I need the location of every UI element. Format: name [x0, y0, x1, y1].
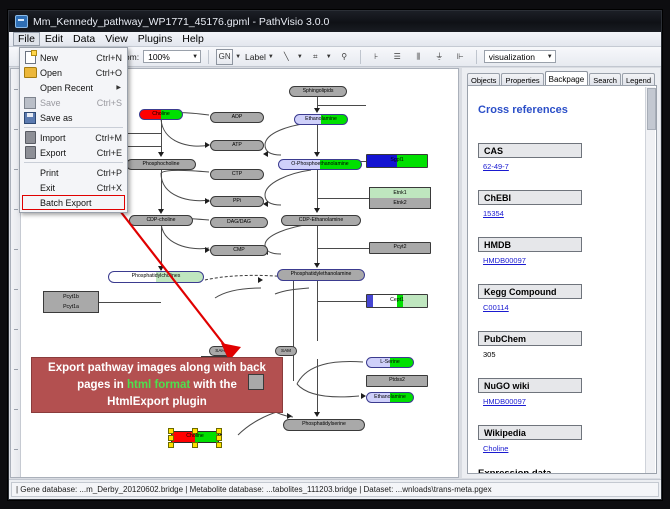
selection-handle[interactable]: [168, 435, 174, 441]
menu-help[interactable]: Help: [177, 32, 209, 46]
xref-chebi: ChEBI 15354: [478, 190, 582, 218]
gene-label: Sgpl1: [390, 158, 403, 163]
gene-cept1[interactable]: Cept1: [366, 294, 428, 308]
xref-label: NuGO wiki: [478, 378, 582, 393]
open-folder-icon: [20, 65, 40, 80]
menu-item-open[interactable]: Open Ctrl+O: [20, 65, 127, 80]
callout-line2-a: pages in: [77, 379, 127, 391]
gene-pcyt2[interactable]: Pcyt2: [369, 242, 431, 254]
chevron-right-icon: ▶: [116, 84, 127, 91]
xref-value[interactable]: 62-49-7: [478, 162, 582, 171]
toolbar-separator: [208, 50, 209, 64]
edge: [317, 105, 366, 106]
node-label: Choline: [186, 434, 204, 439]
selection-handle[interactable]: [168, 428, 174, 434]
title-bar: Mm_Kennedy_pathway_WP1771_45176.gpml - P…: [9, 11, 661, 32]
node-sphingolipids[interactable]: Sphingolipids: [289, 86, 347, 97]
layout-icon[interactable]: ⊩: [452, 49, 469, 65]
visualization-value: visualization: [489, 52, 535, 62]
node-label: O-Phosphoethanolamine: [291, 162, 348, 167]
anchor-icon[interactable]: ⚲: [336, 49, 353, 65]
application-window: Mm_Kennedy_pathway_WP1771_45176.gpml - P…: [8, 10, 662, 500]
panel-scrollbar[interactable]: [645, 87, 655, 473]
node-label: L-Serine: [380, 360, 400, 365]
chevron-down-icon[interactable]: ▼: [326, 54, 332, 60]
menu-plugins[interactable]: Plugins: [133, 32, 177, 46]
node-choline[interactable]: Choline: [139, 109, 183, 120]
xref-label: CAS: [478, 143, 582, 158]
status-text: | Gene database: ...m_Derby_20120602.bri…: [11, 482, 659, 497]
export-icon: [20, 145, 40, 160]
annotation-callout: Export pathway images along with back pa…: [31, 357, 283, 413]
gene-label: Pcyt2: [394, 245, 407, 250]
save-icon: [20, 95, 40, 110]
xref-link[interactable]: 15354: [483, 209, 504, 218]
xref-value[interactable]: HMDB00097: [478, 256, 582, 265]
arrow-icon: [314, 263, 320, 268]
menu-item-shortcut: Ctrl+S: [97, 98, 127, 108]
node-label: SAM: [281, 349, 291, 354]
callout-line1: Export pathway images along with back: [48, 362, 266, 374]
scroll-thumb[interactable]: [647, 88, 656, 130]
menu-item-label: Save as: [40, 113, 122, 123]
menu-bar: File Edit Data View Plugins Help: [9, 32, 661, 47]
menu-item-export[interactable]: Export Ctrl+E: [20, 145, 127, 160]
xref-link[interactable]: HMDB00097: [483, 256, 526, 265]
node-phosphatidylethanolamine[interactable]: Phosphatidylethanolamine: [277, 269, 365, 281]
node-label: ADP: [232, 115, 243, 120]
xref-cas: CAS 62-49-7: [478, 143, 582, 171]
toolbar-separator: [360, 50, 361, 64]
chevron-down-icon[interactable]: ▼: [297, 54, 303, 60]
chevron-down-icon: ▼: [192, 54, 198, 60]
xref-wikipedia: Wikipedia Choline: [478, 425, 582, 453]
menu-item-shortcut: Ctrl+E: [97, 148, 127, 158]
edge: [317, 198, 369, 199]
zoom-value: 100%: [148, 52, 170, 62]
menu-item-label: Save: [40, 98, 97, 108]
menu-item-import[interactable]: Import Ctrl+M: [20, 130, 127, 145]
node-label: CDP-Ethanolamine: [299, 218, 343, 223]
xref-label: PubChem: [478, 331, 582, 346]
menu-separator: [24, 127, 123, 128]
node-label: Ethanolamine: [305, 117, 337, 122]
node-label: Ethanolamine: [374, 395, 406, 400]
menu-item-shortcut: Ctrl+O: [96, 68, 127, 78]
xref-label: Kegg Compound: [478, 284, 582, 299]
save-as-icon: [20, 110, 40, 125]
selection-handle[interactable]: [168, 442, 174, 448]
edge: [317, 248, 369, 249]
file-menu-dropdown[interactable]: New Ctrl+N Open Ctrl+O Open Recent ▶ Sav…: [19, 47, 128, 213]
menu-item-shortcut: Ctrl+N: [96, 53, 127, 63]
selection-handle[interactable]: [216, 442, 222, 448]
node-l-serine[interactable]: L-Serine: [366, 357, 414, 368]
menu-item-save[interactable]: Save Ctrl+S: [20, 95, 127, 110]
shape-connector[interactable]: [248, 374, 264, 390]
toolbar-separator: [476, 50, 477, 64]
align-icon[interactable]: ⊦: [368, 49, 385, 65]
xref-value[interactable]: HMDB00097: [478, 397, 582, 406]
menu-item-label: Open: [40, 68, 96, 78]
chevron-down-icon[interactable]: ▼: [268, 54, 274, 60]
status-bar: | Gene database: ...m_Derby_20120602.bri…: [9, 479, 661, 499]
gene-label: Etnk2: [393, 200, 406, 206]
xref-value[interactable]: Choline: [478, 444, 582, 453]
window-title: Mm_Kennedy_pathway_WP1771_45176.gpml - P…: [33, 16, 329, 28]
selection-handle[interactable]: [192, 442, 198, 448]
menu-separator: [24, 162, 123, 163]
batch-export-highlight: [22, 195, 125, 210]
node-sam[interactable]: SAM: [275, 346, 297, 356]
gene-label: Cept1: [390, 298, 404, 303]
callout-line3: HtmlExport plugin: [107, 396, 207, 408]
xref-nugo-wiki: NuGO wiki HMDB00097: [478, 378, 582, 406]
gene-product-icon[interactable]: GN: [216, 49, 233, 65]
node-cdp-ethanolamine[interactable]: CDP-Ethanolamine: [281, 215, 361, 226]
edge: [317, 301, 366, 302]
chevron-down-icon[interactable]: ▼: [235, 54, 241, 60]
menu-file[interactable]: File: [13, 32, 40, 46]
node-label: Phosphatidylethanolamine: [291, 272, 352, 277]
node-phosphatidylserine[interactable]: Phosphatidylserine: [283, 419, 365, 431]
xref-link[interactable]: Choline: [483, 444, 508, 453]
menu-item-label: Import: [40, 133, 95, 143]
node-label: Phosphatidylserine: [302, 422, 346, 427]
shape-icon[interactable]: ⌗: [307, 49, 324, 65]
label-icon[interactable]: Label: [245, 52, 266, 62]
app-icon: [15, 15, 28, 28]
screen-root: Mm_Kennedy_pathway_WP1771_45176.gpml - P…: [0, 0, 670, 509]
node-o-phosphoethanolamine[interactable]: O-Phosphoethanolamine: [278, 159, 362, 170]
menu-item-new[interactable]: New Ctrl+N: [20, 50, 127, 65]
xref-value: 305: [478, 350, 582, 359]
xref-value[interactable]: 15354: [478, 209, 582, 218]
menu-item-label: New: [40, 53, 96, 63]
menu-item-label: Exit: [40, 183, 97, 193]
line-icon[interactable]: ╲: [278, 49, 295, 65]
visualization-combobox[interactable]: visualization ▼: [484, 50, 556, 63]
callout-highlight: html format: [127, 379, 190, 391]
backpage-content: Cross references CAS 62-49-7 ChEBI 15354…: [467, 86, 657, 474]
menu-data[interactable]: Data: [68, 32, 100, 46]
xref-label: HMDB: [478, 237, 582, 252]
menu-item-open-recent[interactable]: Open Recent ▶: [20, 80, 127, 95]
arrow-icon: [314, 108, 320, 113]
zoom-combobox[interactable]: 100% ▼: [143, 50, 201, 63]
menu-item-save-as[interactable]: Save as: [20, 110, 127, 125]
xref-kegg-compound: Kegg Compound C00114: [478, 284, 582, 312]
xref-link[interactable]: 62-49-7: [483, 162, 509, 171]
xref-label: Wikipedia: [478, 425, 582, 440]
xref-pubchem: PubChem 305: [478, 331, 582, 359]
group-icon[interactable]: ⏚: [431, 49, 448, 65]
node-ethanolamine-bottom[interactable]: Ethanolamine: [366, 392, 414, 403]
gene-etnk[interactable]: Etnk1 Etnk2: [369, 187, 431, 209]
menu-item-shortcut: Ctrl+P: [97, 168, 127, 178]
xref-value[interactable]: C00114: [478, 303, 582, 312]
tab-backpage[interactable]: Backpage: [545, 71, 589, 86]
cross-references-title: Cross references: [478, 104, 568, 116]
right-panel: Objects Properties Backpage Search Legen…: [462, 68, 660, 478]
stack-icon[interactable]: ☰: [389, 49, 406, 65]
menu-item-print[interactable]: Print Ctrl+P: [20, 165, 127, 180]
node-adp[interactable]: ADP: [210, 112, 264, 123]
panel-tabs: Objects Properties Backpage Search Legen…: [467, 72, 657, 86]
gene-ptdss2[interactable]: Ptdss2: [366, 375, 428, 387]
callout-line2-b: with the: [190, 379, 237, 391]
menu-edit[interactable]: Edit: [40, 32, 68, 46]
menu-item-label: Print: [40, 168, 97, 178]
gene-sgpl1[interactable]: Sgpl1: [366, 154, 428, 168]
arrow-icon: [314, 412, 320, 417]
node-ethanolamine-top[interactable]: Ethanolamine: [294, 114, 348, 125]
distribute-icon[interactable]: ⫼: [410, 49, 427, 65]
chevron-down-icon: ▼: [547, 54, 553, 60]
node-label: Choline: [152, 112, 170, 117]
menu-view[interactable]: View: [100, 32, 133, 46]
xref-label: ChEBI: [478, 190, 582, 205]
import-icon: [20, 130, 40, 145]
edge: [317, 281, 318, 341]
expression-data-title: Expression data: [478, 468, 551, 474]
xref-link[interactable]: C00114: [483, 303, 509, 312]
selection-handle[interactable]: [216, 435, 222, 441]
node-label: Sphingolipids: [303, 89, 334, 94]
gene-label: Etnk1: [393, 190, 406, 196]
menu-item-label: Open Recent: [40, 83, 116, 93]
xref-link[interactable]: HMDB00097: [483, 397, 526, 406]
gene-label: Ptdss2: [389, 378, 405, 383]
menu-item-batch-export[interactable]: Batch Export: [20, 195, 127, 210]
xref-hmdb: HMDB HMDB00097: [478, 237, 582, 265]
menu-item-label: Export: [40, 148, 97, 158]
menu-item-shortcut: Ctrl+M: [95, 133, 127, 143]
new-document-icon: [20, 50, 40, 65]
menu-item-shortcut: Ctrl+X: [97, 183, 127, 193]
menu-item-exit[interactable]: Exit Ctrl+X: [20, 180, 127, 195]
selection-handle[interactable]: [216, 428, 222, 434]
